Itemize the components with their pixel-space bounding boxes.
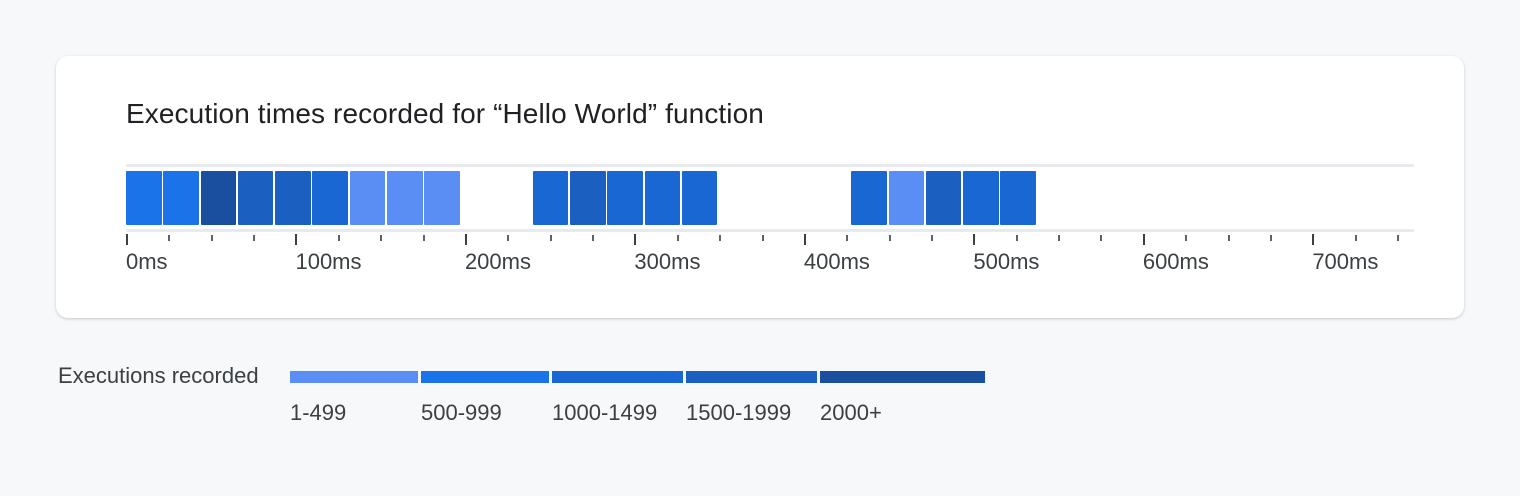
axis-tick-minor (1355, 235, 1357, 241)
axis-tick-minor (762, 235, 764, 241)
execution-cell[interactable] (424, 171, 460, 225)
execution-cell[interactable] (312, 171, 348, 225)
execution-cell[interactable] (126, 171, 162, 225)
execution-cell[interactable] (163, 171, 199, 225)
execution-cell[interactable] (926, 171, 962, 225)
axis-tick-major (126, 234, 128, 245)
execution-cell[interactable] (387, 171, 423, 225)
axis-tick-minor (719, 235, 721, 241)
legend: Executions recorded 1-499500-9991000-149… (58, 360, 1058, 422)
axis-tick-minor (1185, 235, 1187, 241)
axis-tick-minor (1058, 235, 1060, 241)
execution-cell[interactable] (238, 171, 274, 225)
time-axis-labels: 0ms100ms200ms300ms400ms500ms600ms700ms (126, 248, 1421, 276)
legend-caption: 500-999 (421, 399, 502, 427)
legend-caption: 1000-1499 (552, 399, 657, 427)
execution-times-card: Execution times recorded for “Hello Worl… (56, 56, 1464, 318)
axis-tick-minor (889, 235, 891, 241)
legend-caption: 1-499 (290, 399, 346, 427)
legend-swatch[interactable] (552, 371, 683, 383)
execution-timeline (126, 164, 1414, 236)
axis-tick-label: 600ms (1143, 248, 1209, 276)
axis-tick-minor (338, 235, 340, 241)
execution-cell-track (126, 171, 1414, 225)
execution-cell[interactable] (350, 171, 386, 225)
axis-tick-label: 0ms (126, 248, 168, 276)
axis-tick-minor (168, 235, 170, 241)
execution-cell[interactable] (1000, 171, 1036, 225)
legend-caption: 1500-1999 (686, 399, 791, 427)
axis-tick-minor (1397, 235, 1399, 241)
axis-tick-label: 700ms (1312, 248, 1378, 276)
execution-cell[interactable] (682, 171, 718, 225)
axis-tick-label: 100ms (295, 248, 361, 276)
axis-tick-major (634, 234, 636, 245)
execution-cell[interactable] (275, 171, 311, 225)
page-title: Execution times recorded for “Hello Worl… (126, 97, 764, 131)
axis-tick-minor (1270, 235, 1272, 241)
axis-tick-minor (1228, 235, 1230, 241)
timeline-top-rule (126, 164, 1414, 167)
execution-cell[interactable] (607, 171, 643, 225)
axis-tick-major (804, 234, 806, 245)
axis-tick-minor (1100, 235, 1102, 241)
axis-tick-major (295, 234, 297, 245)
execution-cell[interactable] (645, 171, 681, 225)
axis-tick-minor (211, 235, 213, 241)
axis-tick-minor (677, 235, 679, 241)
axis-tick-minor (592, 235, 594, 241)
execution-cell[interactable] (570, 171, 606, 225)
axis-tick-minor (846, 235, 848, 241)
axis-tick-major (1312, 234, 1314, 245)
legend-swatch[interactable] (290, 371, 418, 383)
legend-title: Executions recorded (58, 362, 259, 390)
axis-tick-minor (423, 235, 425, 241)
axis-tick-label: 500ms (973, 248, 1039, 276)
legend-caption: 2000+ (820, 399, 882, 427)
execution-cell[interactable] (963, 171, 999, 225)
execution-cell[interactable] (889, 171, 925, 225)
axis-tick-minor (380, 235, 382, 241)
axis-tick-label: 300ms (634, 248, 700, 276)
axis-tick-minor (931, 235, 933, 241)
execution-cell[interactable] (533, 171, 569, 225)
axis-tick-major (465, 234, 467, 245)
axis-tick-label: 400ms (804, 248, 870, 276)
axis-tick-major (973, 234, 975, 245)
execution-cell[interactable] (851, 171, 887, 225)
timeline-bottom-rule (126, 229, 1414, 232)
axis-tick-minor (253, 235, 255, 241)
axis-tick-minor (550, 235, 552, 241)
axis-tick-minor (1016, 235, 1018, 241)
execution-cell[interactable] (201, 171, 237, 225)
legend-swatch[interactable] (421, 371, 549, 383)
legend-swatch[interactable] (686, 371, 817, 383)
axis-tick-minor (507, 235, 509, 241)
page-root: Execution times recorded for “Hello Worl… (0, 0, 1520, 496)
axis-tick-major (1143, 234, 1145, 245)
axis-tick-label: 200ms (465, 248, 531, 276)
legend-swatch[interactable] (820, 371, 985, 383)
